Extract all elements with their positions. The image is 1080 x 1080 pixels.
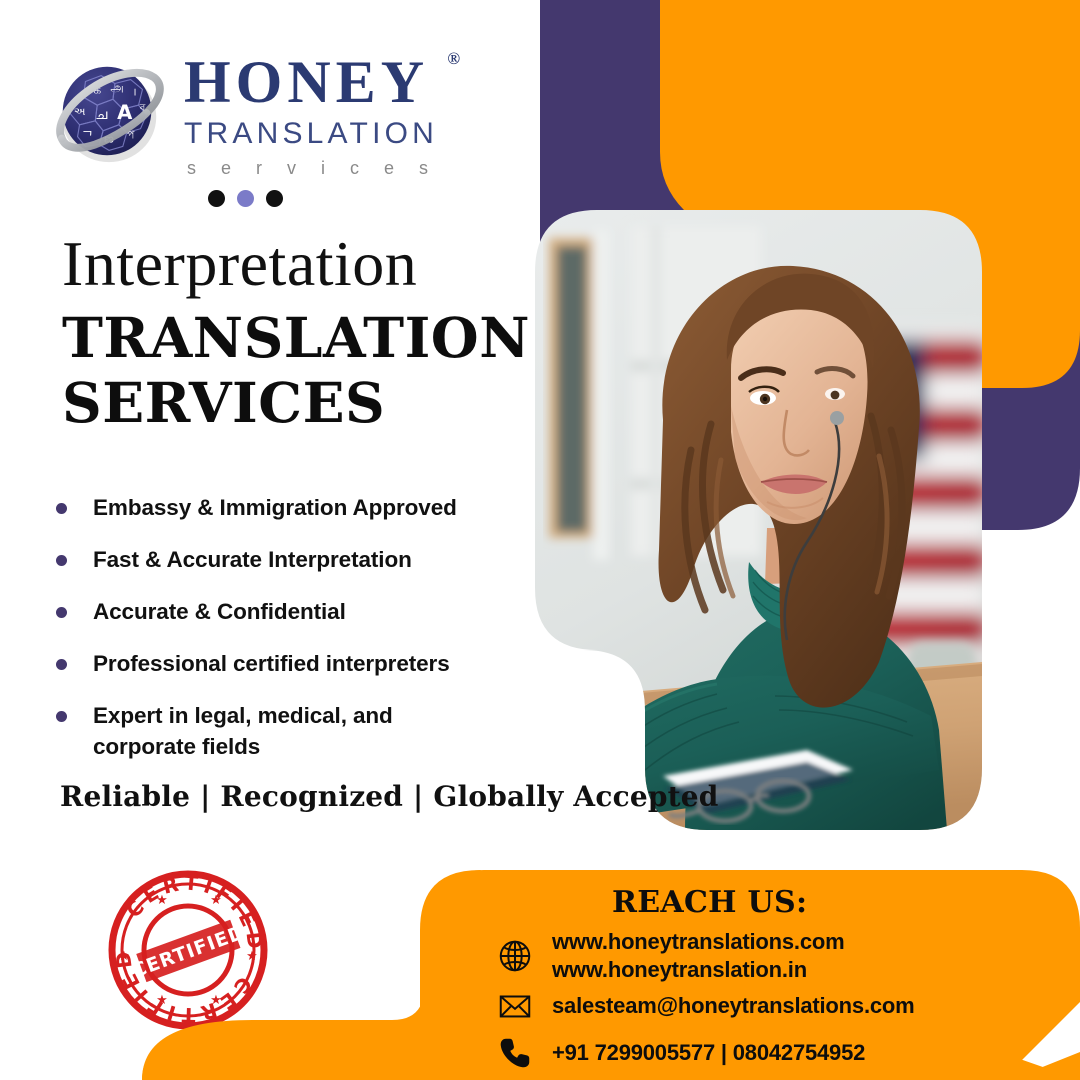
contact-email-row[interactable]: salesteam@honeytranslations.com <box>496 987 915 1025</box>
phone-numbers[interactable]: +91 7299005577 | 08042754952 <box>552 1039 865 1067</box>
globe-icon <box>496 937 534 975</box>
email-address[interactable]: salesteam@honeytranslations.com <box>552 992 915 1020</box>
contact-heading: REACH US: <box>612 885 807 920</box>
contact-details: REACH US: www.honeytranslations.com www.… <box>420 870 1080 1080</box>
envelope-icon <box>496 987 534 1025</box>
contact-phone-row[interactable]: +91 7299005577 | 08042754952 <box>496 1034 865 1072</box>
phone-icon <box>496 1034 534 1072</box>
contact-websites-row[interactable]: www.honeytranslations.com www.honeytrans… <box>496 928 844 983</box>
poster-canvas: க அ । અ ച A ব ᄀ ణ প HONEY ® TRANSLATION … <box>0 0 1080 1080</box>
website-primary[interactable]: www.honeytranslations.com <box>552 928 844 956</box>
website-secondary[interactable]: www.honeytranslation.in <box>552 956 844 984</box>
